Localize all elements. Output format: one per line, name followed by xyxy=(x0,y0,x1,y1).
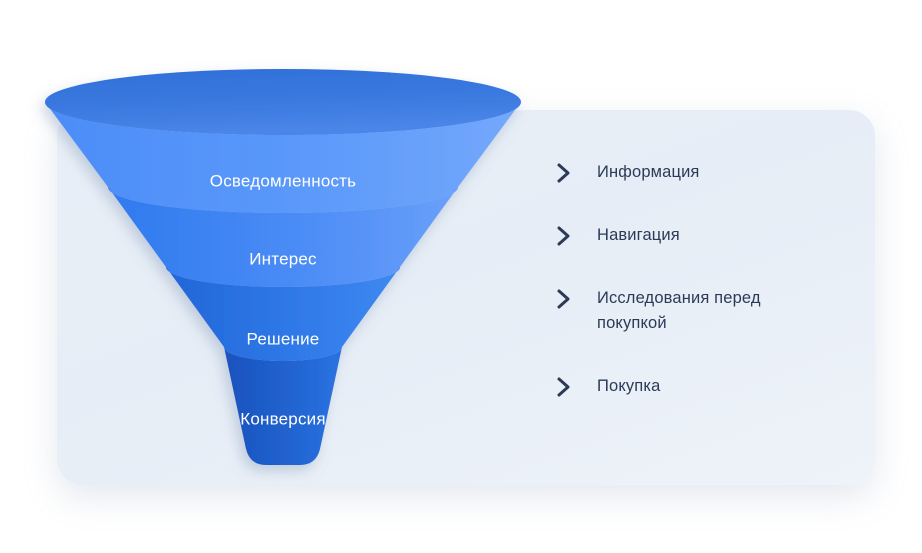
chevron-right-icon xyxy=(553,375,575,399)
list-item[interactable]: Навигация xyxy=(553,223,853,248)
funnel-stage-label-2: Интерес xyxy=(249,249,317,268)
stage-outcome-list: Информация Навигация Исследования перед … xyxy=(553,160,853,399)
funnel-stage-label-4: Конверсия xyxy=(240,409,326,428)
funnel-chart: Осведомленность Интерес Решение Конверси… xyxy=(28,52,538,492)
funnel-stage-label-3: Решение xyxy=(247,329,320,348)
list-item-label: Исследования перед покупкой xyxy=(597,286,827,336)
list-item[interactable]: Исследования перед покупкой xyxy=(553,286,853,336)
funnel-infographic: Осведомленность Интерес Решение Конверси… xyxy=(0,0,922,553)
chevron-right-icon xyxy=(553,224,575,248)
list-item-label: Информация xyxy=(597,160,700,185)
funnel-stage-label-1: Осведомленность xyxy=(210,171,356,190)
list-item-label: Навигация xyxy=(597,223,680,248)
funnel-band-4 xyxy=(224,347,342,465)
chevron-right-icon xyxy=(553,161,575,185)
funnel-rim xyxy=(45,69,521,135)
list-item[interactable]: Покупка xyxy=(553,374,853,399)
chevron-right-icon xyxy=(553,287,575,311)
list-item-label: Покупка xyxy=(597,374,660,399)
list-item[interactable]: Информация xyxy=(553,160,853,185)
